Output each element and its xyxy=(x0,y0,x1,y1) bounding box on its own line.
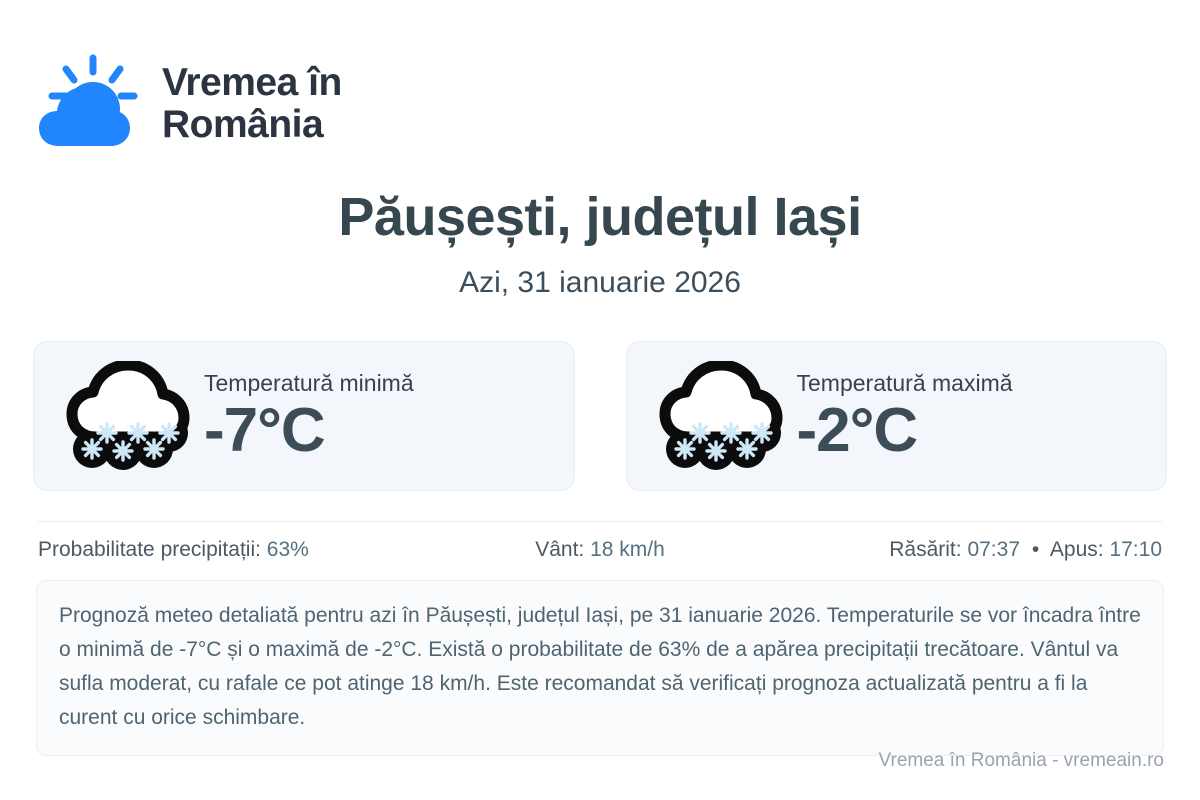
sunset-value: 17:10 xyxy=(1109,538,1162,561)
bullet-separator-icon: • xyxy=(1026,538,1045,561)
weather-page: Vremea în România Păușești, județul Iași… xyxy=(0,0,1200,800)
sun-behind-cloud-icon xyxy=(36,52,144,156)
max-temperature-card: Temperatură maximă -2°C xyxy=(626,341,1168,491)
weather-meta-row: Probabilitate precipitații: 63% Vânt: 18… xyxy=(38,538,1162,562)
snow-cloud-icon xyxy=(659,361,783,471)
max-temperature-value: -2°C xyxy=(797,399,1013,462)
max-temperature-label: Temperatură maximă xyxy=(797,370,1013,397)
min-temperature-value: -7°C xyxy=(204,399,414,462)
temperature-cards: Temperatură minimă -7°C xyxy=(33,341,1167,491)
precipitation-probability: Probabilitate precipitații: 63% xyxy=(38,538,413,562)
min-temperature-label: Temperatură minimă xyxy=(204,370,414,397)
wind-info: Vânt: 18 km/h xyxy=(413,538,788,562)
min-temperature-body: Temperatură minimă -7°C xyxy=(204,370,414,462)
sunset-label: Apus: xyxy=(1050,538,1104,561)
page-subtitle: Azi, 31 ianuarie 2026 xyxy=(0,266,1200,300)
sunrise-value: 07:37 xyxy=(967,538,1020,561)
brand-name: Vremea în România xyxy=(162,62,342,146)
snow-cloud-icon xyxy=(66,361,190,471)
precipitation-value: 63% xyxy=(267,538,309,561)
site-logo[interactable]: Vremea în România xyxy=(36,52,342,156)
max-temperature-body: Temperatură maximă -2°C xyxy=(797,370,1013,462)
sun-times: Răsărit: 07:37 • Apus: 17:10 xyxy=(787,538,1162,562)
meta-divider xyxy=(38,521,1162,522)
sunrise-label: Răsărit: xyxy=(889,538,961,561)
precipitation-label: Probabilitate precipitații: xyxy=(38,538,261,561)
wind-value: 18 km/h xyxy=(590,538,665,561)
forecast-description: Prognoză meteo detaliată pentru azi în P… xyxy=(36,580,1164,756)
footer-credit: Vremea în România - vremeain.ro xyxy=(879,750,1164,772)
min-temperature-card: Temperatură minimă -7°C xyxy=(33,341,575,491)
page-title: Păușești, județul Iași xyxy=(0,186,1200,248)
wind-label: Vânt: xyxy=(535,538,584,561)
